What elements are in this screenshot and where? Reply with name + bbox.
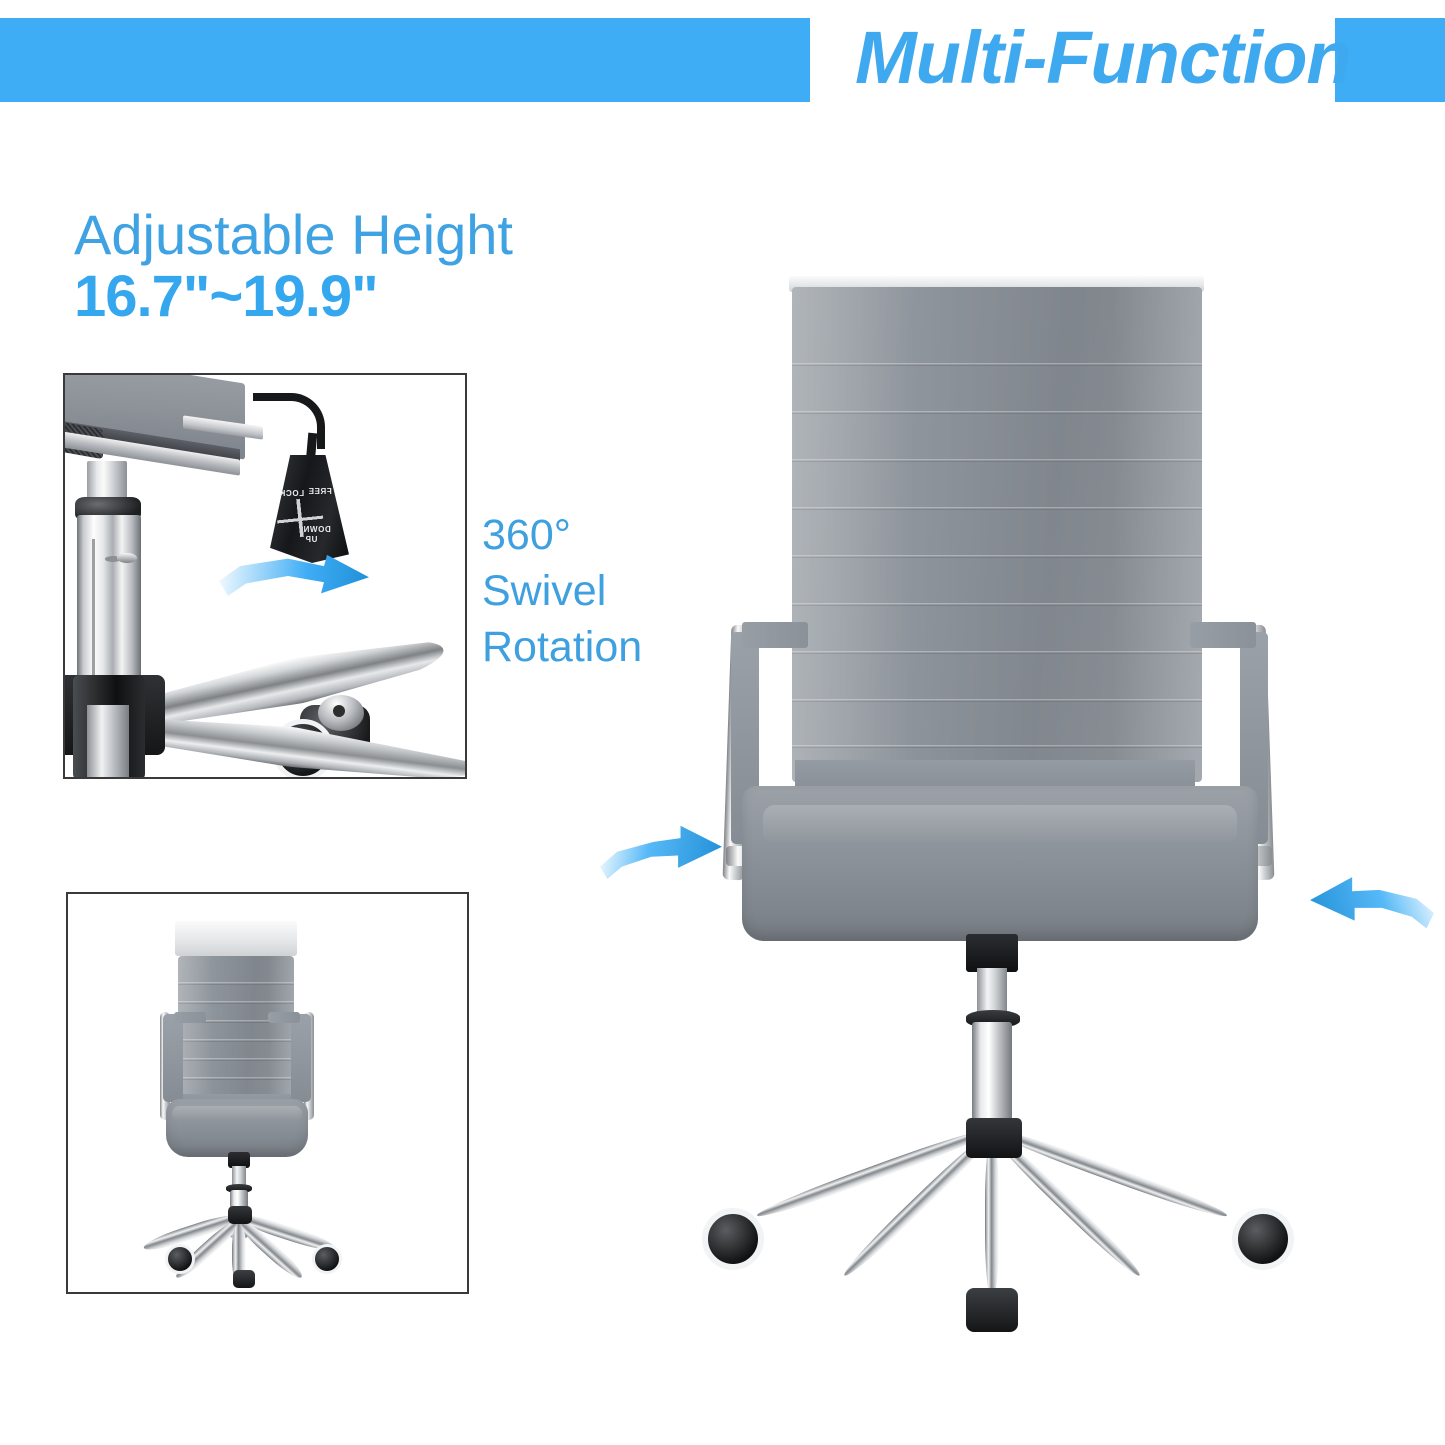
base-spoke-5 (985, 1135, 999, 1300)
caster-2 (1232, 1208, 1294, 1270)
header-bar-left (0, 18, 810, 102)
swivel-word: Swivel (482, 564, 712, 620)
caster-small-1 (165, 1244, 195, 1274)
swivel-arrow-right-icon (1310, 872, 1434, 936)
armrest-pad-right-small (291, 1014, 311, 1102)
rotation-word: Rotation (482, 620, 712, 676)
header-bar-right (1335, 18, 1445, 102)
swivel-rotation-caption: 360° Swivel Rotation (482, 508, 712, 676)
armrest-post-left (742, 622, 808, 648)
caster-small-2 (312, 1244, 342, 1274)
caster-chrome-cap (318, 695, 364, 731)
base-hub-small (228, 1206, 252, 1224)
gas-cylinder-lower (87, 705, 129, 779)
gas-lift-rod (977, 968, 1007, 1016)
infographic-canvas: Multi-Function Adjustable Height 16.7"~1… (0, 0, 1445, 1445)
height-adjust-lever-detail-photo: LOCK FREE DOWN UP (63, 373, 467, 779)
armrest-post-right (1190, 622, 1256, 648)
page-title: Multi-Function (855, 8, 1325, 108)
caster-small-3 (233, 1270, 255, 1288)
armrest-post-right-small (268, 1012, 300, 1023)
backrest (792, 287, 1202, 782)
lever-label-down: DOWN (303, 525, 331, 534)
base-hub (966, 1118, 1022, 1158)
seat-cushion (742, 786, 1258, 941)
seat-cushion-small (166, 1099, 308, 1157)
adjustable-height-value: 16.7"~19.9" (74, 266, 634, 329)
cylinder-screw (117, 553, 137, 563)
adjustable-height-caption: Adjustable Height 16.7"~19.9" (74, 206, 634, 329)
lever-label-lock: LOCK (279, 489, 304, 498)
headrest-small (175, 921, 297, 956)
gas-lift-body (972, 1022, 1012, 1132)
adjustable-height-label: Adjustable Height (74, 206, 634, 264)
armrest-post-left-small (174, 1012, 206, 1023)
backrest-small (178, 956, 294, 1103)
armrest-pad-left-small (163, 1014, 183, 1102)
swivel-arrow-left-icon (600, 822, 722, 884)
lever-label-free: FREE (308, 487, 332, 496)
caster-3 (966, 1288, 1018, 1332)
lever-label-up: UP (305, 535, 317, 544)
full-chair-front-view-photo (66, 892, 469, 1294)
swivel-degrees: 360° (482, 508, 712, 564)
caster-1 (702, 1208, 764, 1270)
gas-lift-top (966, 934, 1018, 972)
